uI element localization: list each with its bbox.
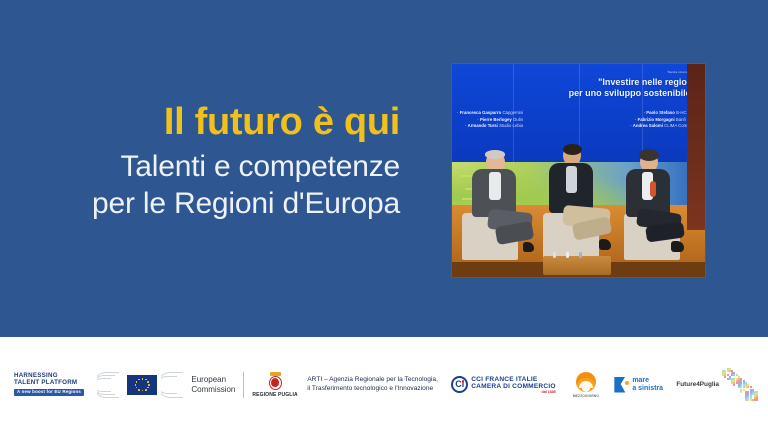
slide-speaker-list: · Francesca Gasparro Capgemini · Pierre …	[457, 110, 700, 130]
speaker-org: Studio Lebia	[499, 123, 523, 128]
bullet-icon: ·	[477, 117, 478, 122]
ec-swoosh-icon-right	[161, 372, 187, 398]
panelist-shoe	[599, 239, 612, 250]
arti-line-2: il Trasferimento tecnologico e l'Innovaz…	[307, 385, 438, 394]
speaker-name: Andrea Salomi	[633, 123, 663, 128]
logo-regione-puglia: REGIONE PUGLIA	[252, 372, 297, 398]
map-dot	[747, 399, 749, 401]
bullet-icon: ·	[644, 110, 645, 115]
hero-banner: Il futuro è qui Talenti e competenze per…	[0, 0, 768, 337]
partner-logo-bar: HARNESSING TALENT PLATFORM A new boost f…	[0, 337, 768, 432]
logo-cci-france-italie: Ci CCI FRANCE ITALIE CAMERA DI COMMERCIO…	[451, 376, 556, 394]
logo-mare-a-sinistra: mare a sinistra	[614, 377, 663, 393]
panelist-right	[619, 149, 690, 268]
logo-future4puglia: Future4Puglia	[676, 368, 760, 402]
page-subheadline: Talenti e competenze per le Regioni d'Eu…	[0, 148, 400, 222]
panelist-shirt	[489, 172, 501, 201]
logo-divider	[243, 372, 244, 398]
slide-title-line-2: per uno sviluppo sostenibile"	[569, 88, 695, 99]
speaker-name: Armando Tursi	[468, 123, 498, 128]
arti-line-1: ARTI – Agenzia Regionale per la Tecnolog…	[307, 376, 438, 385]
map-dot	[747, 386, 749, 388]
speaker-org: Capgemini	[502, 110, 523, 115]
htp-tagline: A new boost for EU Regions	[14, 389, 84, 396]
ec-swoosh-icon	[97, 372, 123, 398]
photo-content: Tavola rotonda "Investire nelle regioni …	[452, 64, 705, 277]
panelist-hair	[563, 144, 582, 155]
speaker-name: Francesca Gasparro	[460, 110, 502, 115]
logo-mezzogiorno: MEZZOGIORNO	[573, 372, 599, 398]
future4puglia-label: Future4Puglia	[676, 381, 719, 388]
title-block: Il futuro è qui Talenti e competenze per…	[0, 100, 414, 222]
bullet-icon: ·	[457, 110, 458, 115]
panelist-leg	[645, 222, 685, 243]
map-dot	[733, 384, 735, 386]
slide-title-line-1: "Investire nelle regioni	[569, 77, 695, 88]
speaker-name: Pierre Berlogey	[480, 117, 512, 122]
regione-puglia-label: REGIONE PUGLIA	[252, 392, 297, 398]
cci-since: dal 1885	[471, 390, 556, 394]
eu-flag-icon	[127, 375, 157, 395]
map-dot	[756, 399, 758, 401]
logo-european-commission: European Commission	[97, 372, 235, 398]
map-dot	[724, 376, 726, 378]
stage-side-wall	[687, 64, 705, 230]
ec-line-1: European	[191, 375, 235, 385]
panel-discussion-photo: Tavola rotonda "Investire nelle regioni …	[452, 64, 705, 277]
ec-wordmark: European Commission	[191, 375, 235, 394]
speaker-name: Fabrizio Morgagni	[638, 117, 675, 122]
bullet-icon: ·	[630, 123, 631, 128]
logo-arti: ARTI – Agenzia Regionale per la Tecnolog…	[307, 376, 438, 393]
mare-sail-icon	[614, 377, 629, 393]
cci-monogram-icon: Ci	[451, 376, 468, 393]
cci-line-1: CCI FRANCE ITALIE	[471, 376, 556, 383]
water-bottle	[566, 252, 569, 258]
water-bottle	[553, 252, 556, 258]
speaker-org: B-HC	[676, 110, 687, 115]
speaker-org: Oulin	[513, 117, 523, 122]
logo-harnessing-talent-platform: HARNESSING TALENT PLATFORM A new boost f…	[8, 373, 84, 396]
panelist-center	[541, 145, 612, 269]
subheadline-line-2: per le Regioni d'Europa	[0, 185, 400, 222]
map-dot	[740, 391, 742, 393]
sun-icon	[576, 372, 596, 392]
map-dot	[743, 389, 745, 391]
slide-speakers-left-column: · Francesca Gasparro Capgemini · Pierre …	[457, 110, 523, 130]
panelist-shirt	[566, 166, 577, 193]
slide-speaker-item: · Francesca Gasparro Capgemini	[457, 110, 523, 117]
water-bottle	[579, 252, 582, 258]
page-headline: Il futuro è qui	[0, 100, 400, 144]
panelist-hair	[485, 150, 505, 158]
speaker-name: Paolo Stefano	[646, 110, 675, 115]
puglia-dot-map-icon	[722, 368, 760, 402]
cci-wordmark: CCI FRANCE ITALIE CAMERA DI COMMERCIO da…	[471, 376, 556, 394]
slide-speaker-item: · Armando Tursi Studio Lebia	[457, 123, 523, 130]
panelist-left	[462, 149, 533, 268]
mare-line-2: a sinistra	[632, 385, 663, 393]
htp-line-2: TALENT PLATFORM	[14, 380, 77, 386]
panelist-shoe	[523, 242, 534, 252]
ec-line-2: Commission	[191, 385, 235, 395]
cci-line-2: CAMERA DI COMMERCIO	[471, 383, 556, 390]
mezzogiorno-label: MEZZOGIORNO	[573, 394, 599, 398]
subheadline-line-1: Talenti e competenze	[0, 148, 400, 185]
puglia-crest-icon	[268, 372, 283, 391]
mare-line-1: mare	[632, 377, 663, 385]
bullet-icon: ·	[465, 123, 466, 128]
panelist-scarf	[650, 181, 656, 197]
slide-title: "Investire nelle regioni per uno svilupp…	[569, 77, 695, 99]
bullet-icon: ·	[635, 117, 636, 122]
stage-table	[543, 256, 611, 275]
panelist-shoe	[671, 241, 684, 252]
mare-wordmark: mare a sinistra	[632, 377, 663, 393]
